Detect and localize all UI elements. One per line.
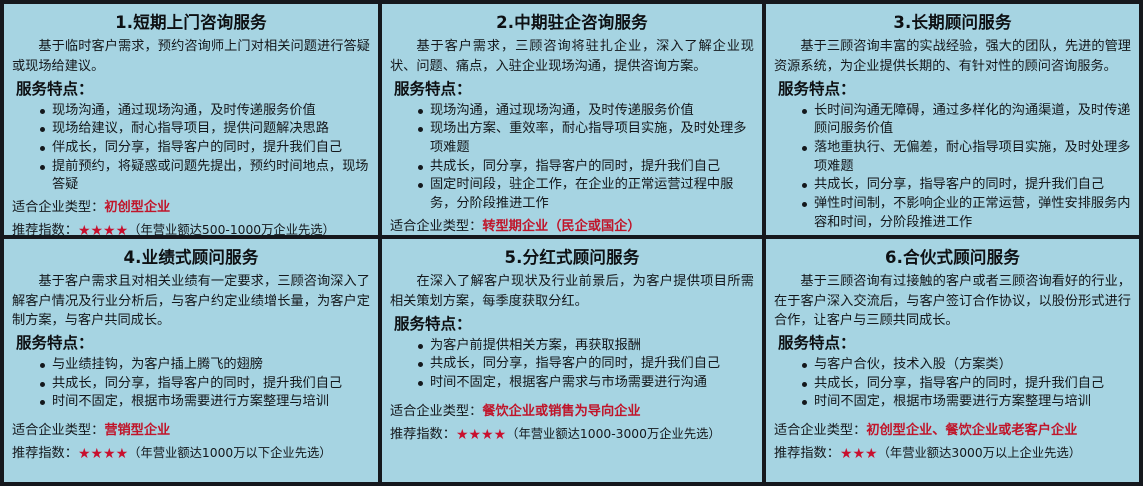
service-card-4: 4.业绩式顾问服务 基于客户需求且对相关业绩有一定要求，三顾咨询深入了解客户情况… — [4, 239, 378, 482]
suitable-value: 营销型企业 — [104, 423, 170, 438]
suitable-row: 适合企业类型：初创型企业、餐饮企业或老客户企业 — [774, 421, 1131, 441]
feature-item: 固定时间段，驻企工作，在企业的正常运营过程中服务，分阶段推进工作 — [418, 176, 754, 213]
features-list: 为客户前提供相关方案，再获取报酬共成长，同分享，指导客户的同时，提升我们自己时间… — [390, 337, 754, 393]
feature-item: 与客户合伙，技术入股（方案类） — [802, 356, 1131, 375]
features-list: 长时间沟通无障碍，通过多样化的沟通渠道，及时传递顾问服务价值落地重执行、无偏差，… — [774, 102, 1131, 233]
features-heading: 服务特点： — [16, 78, 370, 100]
suitable-row: 适合企业类型：转型期企业（民企或国企） — [390, 217, 754, 235]
suitable-row: 适合企业类型：营销型企业 — [12, 421, 370, 441]
rating-row: 推荐指数：★★★★（年营业额达1000-3000万企业先选） — [390, 425, 754, 446]
star-rating: ★★★ — [840, 446, 878, 462]
rating-row: 推荐指数：★★★（年营业额达3000万以上企业先选） — [774, 444, 1131, 465]
feature-item: 现场沟通，通过现场沟通，及时传递服务价值 — [418, 102, 754, 121]
service-plans-grid: 1.短期上门咨询服务 基于临时客户需求，预约咨询师上门对相关问题进行答疑或现场给… — [0, 0, 1143, 486]
card-intro: 基于临时客户需求，预约咨询师上门对相关问题进行答疑或现场给建议。 — [12, 37, 370, 76]
rating-label: 推荐指数： — [12, 446, 78, 461]
suitable-label: 适合企业类型： — [12, 423, 104, 438]
spacer — [390, 393, 754, 399]
feature-item: 共成长，同分享，指导客户的同时，提升我们自己 — [418, 158, 754, 177]
card-intro: 基于三顾咨询有过接触的客户或者三顾咨询看好的行业，在于客户深入交流后，与客户签订… — [774, 272, 1131, 330]
feature-item: 提前预约，将疑惑或问题先提出，预约时间地点，现场答疑 — [40, 158, 370, 195]
card-title: 5.分红式顾问服务 — [390, 247, 754, 269]
rating-row: 推荐指数：★★★★（年营业额达1000万以下企业先选） — [12, 444, 370, 465]
suitable-label: 适合企业类型： — [390, 404, 482, 419]
features-heading: 服务特点： — [16, 332, 370, 354]
spacer — [12, 412, 370, 418]
features-heading: 服务特点： — [778, 78, 1131, 100]
feature-item: 共成长，同分享，指导客户的同时，提升我们自己 — [418, 355, 754, 374]
suitable-value: 餐饮企业或销售为导向企业 — [482, 404, 640, 419]
rating-note: （年营业额达3000万以上企业先选） — [878, 446, 1081, 460]
features-list: 与业绩挂钩，为客户插上腾飞的翅膀共成长，同分享，指导客户的同时，提升我们自己时间… — [12, 356, 370, 412]
service-card-3: 3.长期顾问服务 基于三顾咨询丰富的实战经验，强大的团队，先进的管理资源系统，为… — [766, 4, 1139, 235]
feature-item: 共成长，同分享，指导客户的同时，提升我们自己 — [802, 375, 1131, 394]
card-title: 4.业绩式顾问服务 — [12, 247, 370, 269]
feature-item: 为客户前提供相关方案，再获取报酬 — [418, 337, 754, 356]
feature-item: 现场沟通，通过现场沟通，及时传递服务价值 — [40, 102, 370, 121]
rating-note: （年营业额达1000万以下企业先选） — [128, 446, 331, 460]
rating-label: 推荐指数： — [390, 427, 456, 442]
card-intro: 在深入了解客户现状及行业前景后，为客户提供项目所需相关策划方案，每季度获取分红。 — [390, 272, 754, 311]
feature-item: 现场给建议，耐心指导项目，提供问题解决思路 — [40, 120, 370, 139]
features-heading: 服务特点： — [778, 332, 1131, 354]
card-title: 3.长期顾问服务 — [774, 12, 1131, 34]
rating-note: （年营业额达1000-3000万企业先选） — [506, 427, 721, 441]
features-list: 现场沟通，通过现场沟通，及时传递服务价值现场出方案、重效率，耐心指导项目实施，及… — [390, 102, 754, 214]
suitable-value: 转型期企业（民企或国企） — [482, 219, 640, 234]
card-title: 2.中期驻企咨询服务 — [390, 12, 754, 34]
suitable-label: 适合企业类型： — [12, 200, 104, 215]
card-intro: 基于三顾咨询丰富的实战经验，强大的团队，先进的管理资源系统，为企业提供长期的、有… — [774, 37, 1131, 76]
feature-item: 长时间沟通无障碍，通过多样化的沟通渠道，及时传递顾问服务价值 — [802, 102, 1131, 139]
feature-item: 时间不固定，根据客户需求与市场需要进行沟通 — [418, 374, 754, 393]
suitable-label: 适合企业类型： — [390, 219, 482, 234]
features-heading: 服务特点： — [394, 78, 754, 100]
feature-item: 伴成长，同分享，指导客户的同时，提升我们自己 — [40, 139, 370, 158]
service-card-1: 1.短期上门咨询服务 基于临时客户需求，预约咨询师上门对相关问题进行答疑或现场给… — [4, 4, 378, 235]
star-rating: ★★★★ — [78, 223, 128, 235]
spacer — [774, 412, 1131, 418]
card-intro: 基于客户需求，三顾咨询将驻扎企业，深入了解企业现状、问题、痛点，入驻企业现场沟通… — [390, 37, 754, 76]
service-card-5: 5.分红式顾问服务 在深入了解客户现状及行业前景后，为客户提供项目所需相关策划方… — [382, 239, 762, 482]
feature-item: 弹性时间制，不影响企业的正常运营，弹性安排服务内容和时间，分阶段推进工作 — [802, 195, 1131, 232]
feature-item: 现场出方案、重效率，耐心指导项目实施，及时处理多项难题 — [418, 120, 754, 157]
feature-item: 与业绩挂钩，为客户插上腾飞的翅膀 — [40, 356, 370, 375]
star-rating: ★★★★ — [456, 427, 506, 443]
features-heading: 服务特点： — [394, 313, 754, 335]
suitable-value: 初创型企业、餐饮企业或老客户企业 — [866, 423, 1077, 438]
card-intro: 基于客户需求且对相关业绩有一定要求，三顾咨询深入了解客户情况及行业分析后，与客户… — [12, 272, 370, 330]
features-list: 现场沟通，通过现场沟通，及时传递服务价值现场给建议，耐心指导项目，提供问题解决思… — [12, 102, 370, 196]
feature-item: 时间不固定，根据市场需要进行方案整理与培训 — [40, 393, 370, 412]
card-title: 6.合伙式顾问服务 — [774, 247, 1131, 269]
star-rating: ★★★★ — [78, 446, 128, 462]
feature-item: 时间不固定，根据市场需要进行方案整理与培训 — [802, 393, 1131, 412]
rating-row: 推荐指数：★★★★（年营业额达500-1000万企业先选） — [12, 221, 370, 235]
feature-item: 落地重执行、无偏差，耐心指导项目实施，及时处理多项难题 — [802, 139, 1131, 176]
feature-item: 共成长，同分享，指导客户的同时，提升我们自己 — [40, 375, 370, 394]
service-card-2: 2.中期驻企咨询服务 基于客户需求，三顾咨询将驻扎企业，深入了解企业现状、问题、… — [382, 4, 762, 235]
rating-label: 推荐指数： — [774, 446, 840, 461]
features-list: 与客户合伙，技术入股（方案类）共成长，同分享，指导客户的同时，提升我们自己时间不… — [774, 356, 1131, 412]
suitable-row: 适合企业类型：初创型企业 — [12, 198, 370, 218]
suitable-value: 初创型企业 — [104, 200, 170, 215]
feature-item: 共成长，同分享，指导客户的同时，提升我们自己 — [802, 176, 1131, 195]
rating-label: 推荐指数： — [12, 223, 78, 235]
service-card-6: 6.合伙式顾问服务 基于三顾咨询有过接触的客户或者三顾咨询看好的行业，在于客户深… — [766, 239, 1139, 482]
suitable-label: 适合企业类型： — [774, 423, 866, 438]
suitable-row: 适合企业类型：餐饮企业或销售为导向企业 — [390, 402, 754, 422]
rating-note: （年营业额达500-1000万企业先选） — [128, 223, 335, 235]
card-title: 1.短期上门咨询服务 — [12, 12, 370, 34]
